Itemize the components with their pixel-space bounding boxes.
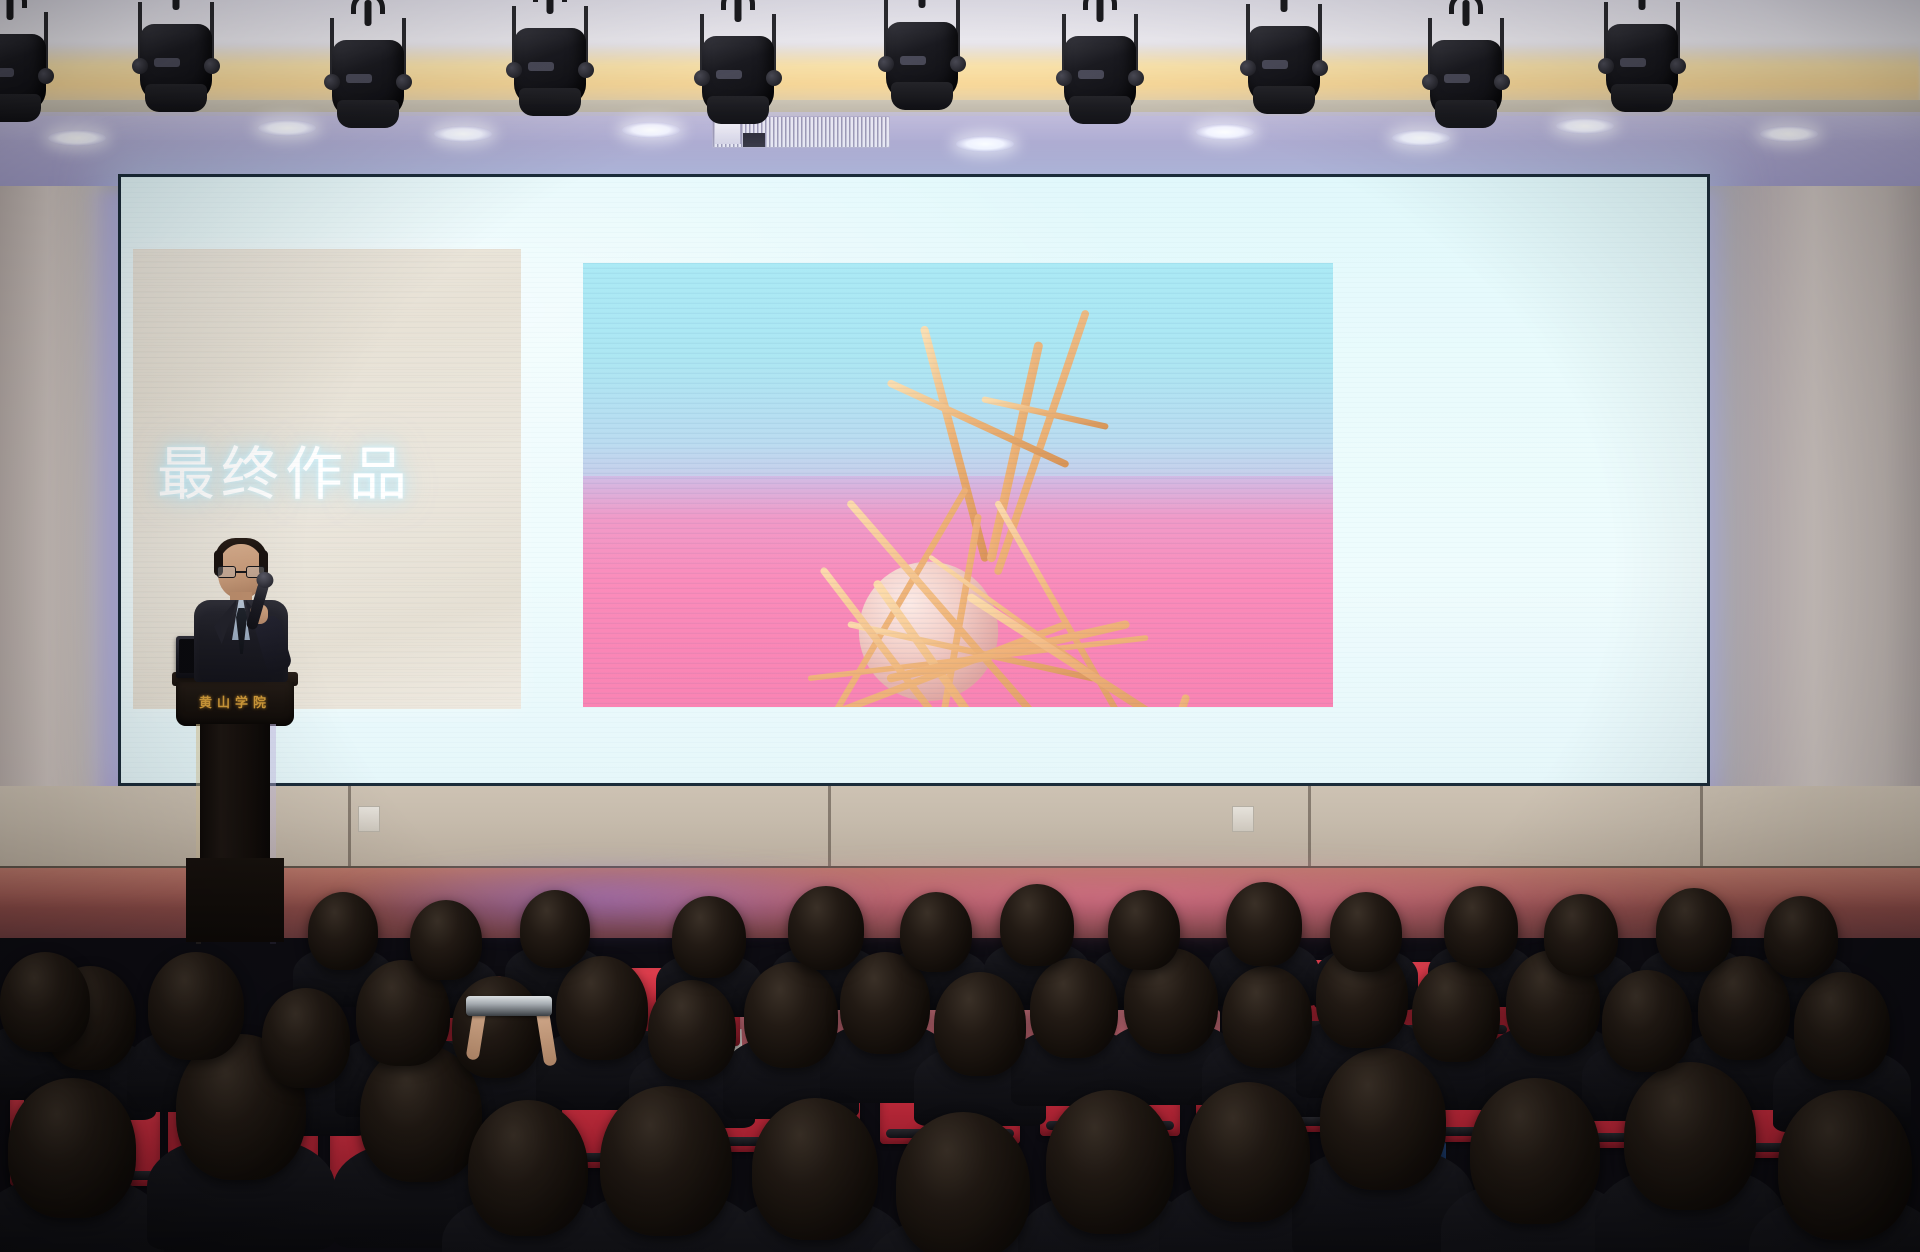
audience-head [788,886,864,970]
audience-head [1000,884,1074,966]
audience-head [1226,882,1302,966]
auditorium-presentation-photo: 最终作品 [0,0,1920,1252]
stage-spotlight-icon [700,14,776,134]
stage-spotlight-icon [1604,2,1680,122]
stage-spotlight-icon [1246,4,1322,124]
projection-screen: 最终作品 [118,174,1710,786]
audience-head [600,1086,732,1236]
audience-head [556,956,648,1060]
lectern: 黄山学院 [172,672,298,940]
recessed-downlight-icon [956,136,1014,152]
lectern-logo: 黄山学院 [172,692,298,711]
recessed-downlight-icon [258,120,316,136]
audience-head [1624,1062,1756,1210]
audience-head [672,896,746,978]
slide-title: 最终作品 [157,445,413,503]
presenter [188,538,294,680]
stage-spotlight-icon [1428,18,1504,138]
audience-head [1108,890,1180,970]
audience-head [1412,962,1500,1062]
audience-head [1046,1090,1174,1234]
audience-head [308,892,378,970]
stage-spotlight-icon [330,18,406,138]
wall-outlet-plate [1232,806,1254,832]
audience-head [744,962,838,1068]
audience-head [900,892,972,972]
audience-head [410,900,482,980]
recessed-downlight-icon [1196,124,1254,140]
stage-spotlight-icon [884,0,960,120]
stage-spotlight-icon [138,2,214,122]
audience-head [1222,966,1312,1068]
audience-head [1320,1048,1446,1190]
audience-head [648,980,736,1080]
audience-head [1602,970,1692,1072]
recessed-downlight-icon [622,122,680,138]
wall-outlet-plate [358,806,380,832]
projected-slide: 最终作品 [121,177,1707,783]
photo-projection-veil [583,263,1333,707]
recessed-downlight-icon [48,130,106,146]
stage-spotlight-icon [0,12,48,132]
audience-head [0,952,90,1052]
slide-photo [583,263,1333,707]
audience-head [1764,896,1838,978]
audience-head [934,972,1026,1076]
audience-head [262,988,350,1088]
audience-head [1778,1090,1912,1240]
audience-head [8,1078,136,1218]
audience-head [752,1098,878,1240]
audience-head [1794,972,1890,1080]
audience-head [896,1112,1030,1252]
smartphone-icon [466,996,552,1016]
audience-head [1030,958,1118,1058]
recessed-downlight-icon [434,126,492,142]
audience-head [468,1100,588,1236]
audience-head [1330,892,1402,972]
audience-head [520,890,590,968]
stage-spotlight-icon [1062,14,1138,134]
audience-head [452,976,542,1078]
audience-head [1656,888,1732,972]
audience-head [148,952,244,1060]
stage-spotlight-icon [512,6,588,126]
audience-head [1444,886,1518,968]
recessed-downlight-icon [1760,126,1818,142]
audience-head [1544,894,1618,976]
audience-head [1470,1078,1600,1224]
audience-head [1186,1082,1310,1222]
